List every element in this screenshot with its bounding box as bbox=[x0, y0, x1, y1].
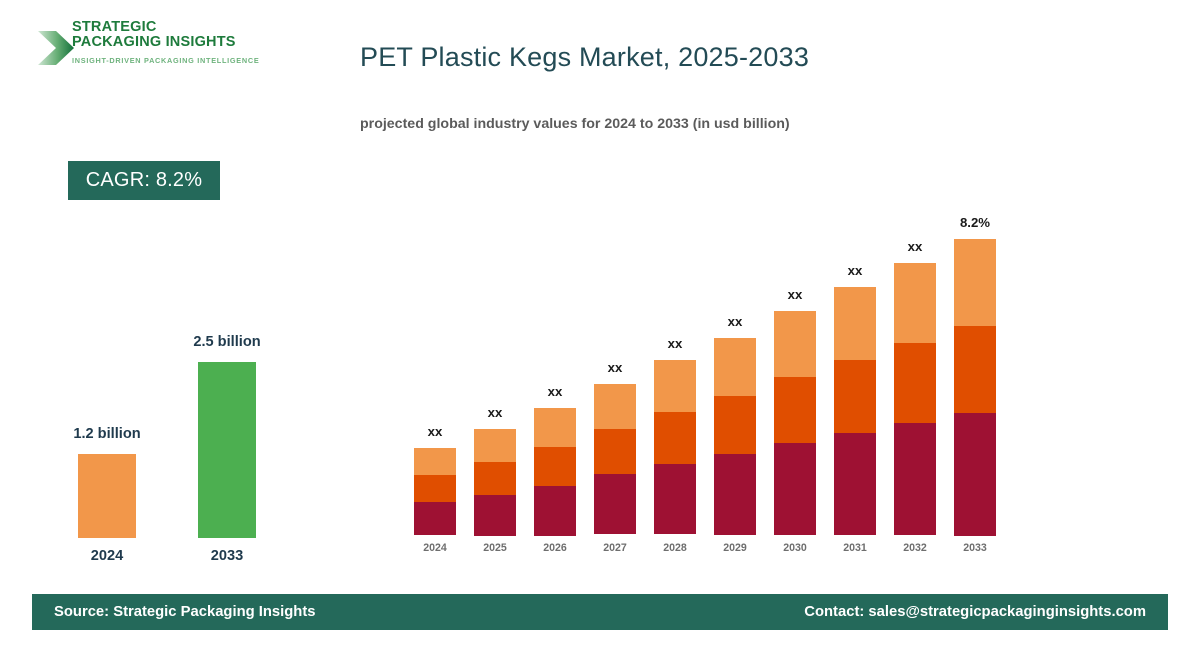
stacked-bar-segment-segment-1 bbox=[534, 486, 576, 536]
stacked-bar bbox=[654, 360, 696, 535]
stacked-bar-year-label: 2025 bbox=[474, 542, 516, 554]
stacked-bar-value-label: xx bbox=[695, 314, 775, 329]
stacked-bar bbox=[474, 429, 516, 535]
stacked-bar-segment-segment-1 bbox=[414, 502, 456, 535]
brand-logo-text: STRATEGIC PACKAGING INSIGHTS INSIGHT-DRI… bbox=[72, 20, 272, 65]
stacked-bar-year-label: 2026 bbox=[534, 542, 576, 554]
brand-logo: STRATEGIC PACKAGING INSIGHTS INSIGHT-DRI… bbox=[32, 20, 272, 78]
stacked-bar-group: xx2026 bbox=[534, 216, 576, 556]
stacked-bar-year-label: 2029 bbox=[714, 542, 756, 554]
stacked-bar-segment-segment-2 bbox=[534, 447, 576, 486]
stacked-bar-year-label: 2024 bbox=[414, 542, 456, 554]
stacked-bar-segment-segment-3 bbox=[414, 448, 456, 475]
stacked-bar-value-label: xx bbox=[635, 336, 715, 351]
stacked-bar-segment-segment-3 bbox=[774, 311, 816, 377]
stacked-bar-segment-segment-1 bbox=[594, 474, 636, 534]
footer-source-text: Source: Strategic Packaging Insights bbox=[54, 594, 315, 630]
stacked-bar-year-label: 2031 bbox=[834, 542, 876, 554]
stacked-bar-segment-segment-2 bbox=[594, 429, 636, 474]
stacked-bar-segment-segment-3 bbox=[534, 408, 576, 447]
comparison-bar-group bbox=[78, 362, 136, 538]
footer-contact-text: Contact: sales@strategicpackaginginsight… bbox=[804, 594, 1146, 630]
stacked-bar-group: 8.2%2033 bbox=[954, 216, 996, 556]
stacked-bar-value-label: 8.2% bbox=[935, 215, 1015, 230]
stacked-bar-value-label: xx bbox=[395, 424, 475, 439]
comparison-bar-value-label: 2.5 billion bbox=[147, 334, 307, 350]
stacked-bar-group: xx2032 bbox=[894, 216, 936, 556]
stacked-bar-segment-segment-2 bbox=[474, 462, 516, 495]
stacked-bar-chart: xx2024xx2025xx2026xx2027xx2028xx2029xx20… bbox=[400, 196, 1020, 556]
comparison-bar bbox=[78, 454, 136, 538]
brand-name-line1: STRATEGIC bbox=[72, 20, 272, 35]
stacked-bar-segment-segment-1 bbox=[654, 464, 696, 534]
stacked-bar bbox=[834, 287, 876, 535]
stacked-bar-segment-segment-2 bbox=[654, 412, 696, 464]
comparison-bar-year-label: 2024 bbox=[78, 548, 136, 564]
stacked-bar-group: xx2025 bbox=[474, 216, 516, 556]
stacked-bar-segment-segment-1 bbox=[774, 443, 816, 535]
stacked-bar-segment-segment-1 bbox=[474, 495, 516, 536]
stacked-bar-segment-segment-3 bbox=[594, 384, 636, 429]
stacked-bar-segment-segment-1 bbox=[894, 423, 936, 535]
stacked-bar bbox=[714, 338, 756, 535]
stacked-bar bbox=[774, 311, 816, 535]
stacked-bar-group: xx2024 bbox=[414, 216, 456, 556]
stacked-bar-value-label: xx bbox=[455, 405, 535, 420]
stacked-bar-year-label: 2032 bbox=[894, 542, 936, 554]
stacked-bar bbox=[594, 384, 636, 535]
cagr-badge: CAGR: 8.2% bbox=[68, 161, 220, 200]
stacked-bar bbox=[534, 408, 576, 535]
comparison-bar-group bbox=[198, 362, 256, 538]
stacked-bar-segment-segment-1 bbox=[834, 433, 876, 535]
stacked-bar-segment-segment-2 bbox=[834, 360, 876, 433]
stacked-bar-group: xx2029 bbox=[714, 216, 756, 556]
stacked-bar-segment-segment-2 bbox=[714, 396, 756, 454]
footer-bar: Source: Strategic Packaging Insights Con… bbox=[32, 594, 1168, 630]
brand-tagline: INSIGHT-DRIVEN PACKAGING INTELLIGENCE bbox=[72, 56, 272, 65]
page-title: PET Plastic Kegs Market, 2025-2033 bbox=[360, 42, 809, 73]
stacked-bar-segment-segment-2 bbox=[774, 377, 816, 443]
comparison-bar-year-label: 2033 bbox=[198, 548, 256, 564]
stacked-bar-year-label: 2028 bbox=[654, 542, 696, 554]
stacked-bar-value-label: xx bbox=[815, 263, 895, 278]
stacked-bar-value-label: xx bbox=[755, 287, 835, 302]
stacked-bar-group: xx2028 bbox=[654, 216, 696, 556]
page-subtitle: projected global industry values for 202… bbox=[360, 116, 790, 132]
stacked-bar-group: xx2027 bbox=[594, 216, 636, 556]
comparison-bar bbox=[198, 362, 256, 538]
stacked-bar-segment-segment-3 bbox=[654, 360, 696, 412]
stacked-bar-group: xx2030 bbox=[774, 216, 816, 556]
stacked-bar-segment-segment-3 bbox=[834, 287, 876, 360]
stacked-bar-segment-segment-2 bbox=[894, 343, 936, 423]
stacked-bar bbox=[894, 263, 936, 535]
stacked-bar-segment-segment-3 bbox=[954, 239, 996, 326]
stacked-bar-value-label: xx bbox=[575, 360, 655, 375]
stacked-bar-year-label: 2030 bbox=[774, 542, 816, 554]
stacked-bar-segment-segment-3 bbox=[474, 429, 516, 462]
stacked-bar-segment-segment-1 bbox=[954, 413, 996, 536]
stacked-bar-value-label: xx bbox=[515, 384, 595, 399]
comparison-bar-value-label: 1.2 billion bbox=[27, 426, 187, 442]
stacked-bar-segment-segment-1 bbox=[714, 454, 756, 535]
brand-name-line2: PACKAGING INSIGHTS bbox=[72, 35, 272, 50]
stacked-bar-segment-segment-2 bbox=[414, 475, 456, 502]
stacked-bar-segment-segment-3 bbox=[714, 338, 756, 396]
stacked-bar-group: xx2031 bbox=[834, 216, 876, 556]
stacked-bar-value-label: xx bbox=[875, 239, 955, 254]
stacked-bar-year-label: 2033 bbox=[954, 542, 996, 554]
chart-infographic: STRATEGIC PACKAGING INSIGHTS INSIGHT-DRI… bbox=[0, 0, 1200, 650]
cagr-badge-label: CAGR: 8.2% bbox=[86, 169, 202, 192]
stacked-bar bbox=[954, 239, 996, 535]
stacked-bar bbox=[414, 448, 456, 535]
stacked-bar-segment-segment-2 bbox=[954, 326, 996, 413]
stacked-bar-year-label: 2027 bbox=[594, 542, 636, 554]
comparison-bar-chart: 1.2 billion20242.5 billion2033 bbox=[55, 300, 285, 570]
stacked-bar-segment-segment-3 bbox=[894, 263, 936, 343]
